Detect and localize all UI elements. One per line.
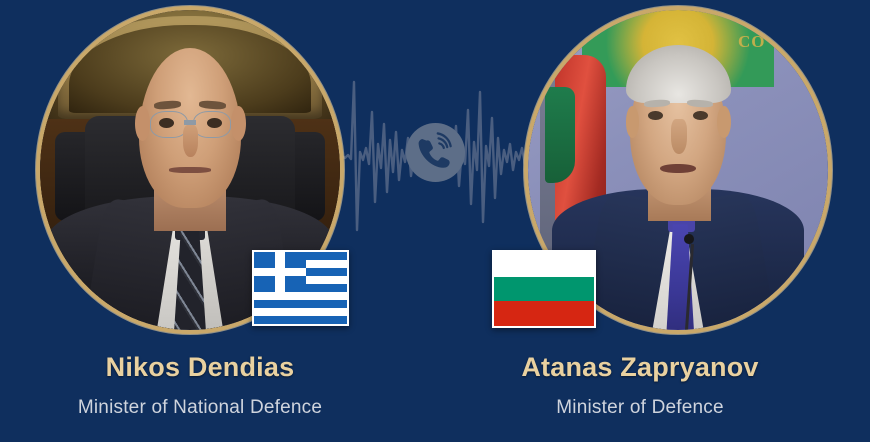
caption-right: Atanas Zapryanov Minister of Defence xyxy=(440,352,840,419)
person-title-right: Minister of Defence xyxy=(440,397,840,419)
greece-flag-canton xyxy=(254,252,306,292)
call-announcement-graphic: CO xyxy=(0,0,870,442)
bulgaria-flag xyxy=(492,250,596,328)
greece-flag xyxy=(252,250,349,326)
phone-call-icon xyxy=(405,122,466,183)
caption-left: Nikos Dendias Minister of National Defen… xyxy=(0,352,400,419)
person-name-left: Nikos Dendias xyxy=(0,352,400,383)
person-name-right: Atanas Zapryanov xyxy=(440,352,840,383)
person-title-left: Minister of National Defence xyxy=(0,397,400,419)
backdrop-seal-text: CO xyxy=(738,32,816,77)
